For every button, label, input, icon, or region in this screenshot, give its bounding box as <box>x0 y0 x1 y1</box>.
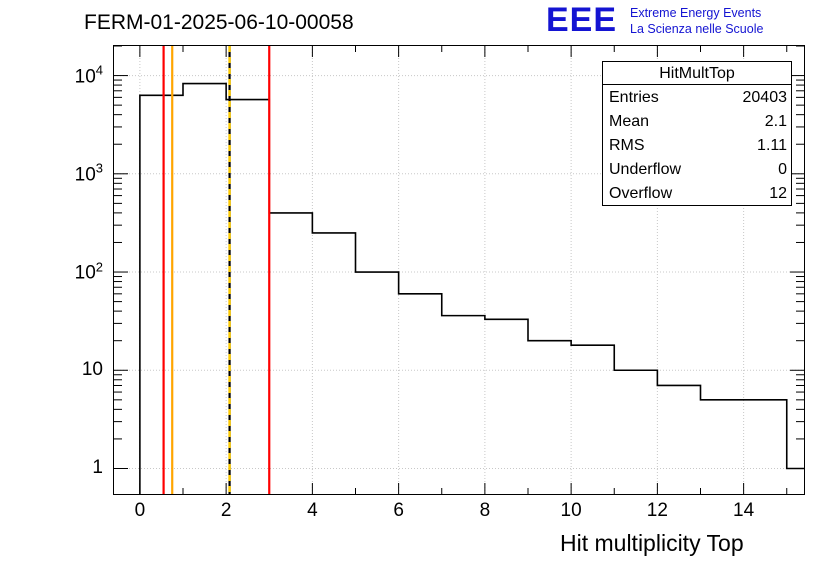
stats-row-value: 12 <box>769 182 787 206</box>
y-tick-mantissa: 1 <box>92 457 103 478</box>
x-tick-label: 14 <box>733 500 754 522</box>
y-tick-mantissa: 10 <box>82 359 103 380</box>
x-tick-label: 6 <box>393 500 404 522</box>
eee-logo-line2: La Scienza nelle Scuole <box>630 21 763 37</box>
stats-row-value: 1.11 <box>757 134 787 158</box>
eee-logo-line1: Extreme Energy Events <box>630 5 763 21</box>
y-tick-mantissa: 10 <box>75 66 96 87</box>
stats-row: Entries20403 <box>609 86 787 110</box>
x-tick-label: 4 <box>307 500 318 522</box>
stats-box-title: HitMultTop <box>603 62 791 85</box>
stats-row-label: RMS <box>609 134 645 158</box>
stats-row: RMS1.11 <box>609 134 787 158</box>
y-tick-label: 10 <box>0 359 103 381</box>
stats-row-label: Mean <box>609 110 649 134</box>
x-tick-label: 12 <box>647 500 668 522</box>
x-tick-label: 0 <box>135 500 146 522</box>
stats-row: Mean2.1 <box>609 110 787 134</box>
x-tick-label: 10 <box>561 500 582 522</box>
y-tick-label: 104 <box>0 63 103 88</box>
chart-canvas: FERM-01-2025-06-10-00058 EEE Extreme Ene… <box>0 0 836 572</box>
y-tick-label: 103 <box>0 161 103 186</box>
stats-box: HitMultTop Entries20403Mean2.1RMS1.11Und… <box>602 61 792 206</box>
page-title: FERM-01-2025-06-10-00058 <box>84 11 354 35</box>
stats-row: Underflow0 <box>609 158 787 182</box>
y-tick-exponent: 4 <box>96 62 103 77</box>
x-tick-label: 8 <box>480 500 491 522</box>
stats-row-label: Overflow <box>609 182 672 206</box>
stats-row-value: 0 <box>778 158 787 182</box>
y-tick-exponent: 2 <box>96 259 103 274</box>
stats-row-label: Entries <box>609 86 659 110</box>
y-tick-mantissa: 10 <box>75 263 96 284</box>
y-tick-mantissa: 10 <box>75 164 96 185</box>
stats-row: Overflow12 <box>609 182 787 206</box>
y-tick-label: 102 <box>0 259 103 284</box>
stats-row-value: 20403 <box>743 86 788 110</box>
x-tick-label: 2 <box>221 500 232 522</box>
stats-row-value: 2.1 <box>765 110 787 134</box>
x-axis-title: Hit multiplicity Top <box>560 530 744 557</box>
eee-logo-text: Extreme Energy Events La Scienza nelle S… <box>630 5 763 37</box>
y-tick-label: 1 <box>0 457 103 479</box>
stats-row-label: Underflow <box>609 158 681 182</box>
y-tick-exponent: 3 <box>96 161 103 176</box>
eee-logo-mark: EEE <box>546 3 617 37</box>
eee-logo: EEE Extreme Energy Events La Scienza nel… <box>546 3 832 43</box>
